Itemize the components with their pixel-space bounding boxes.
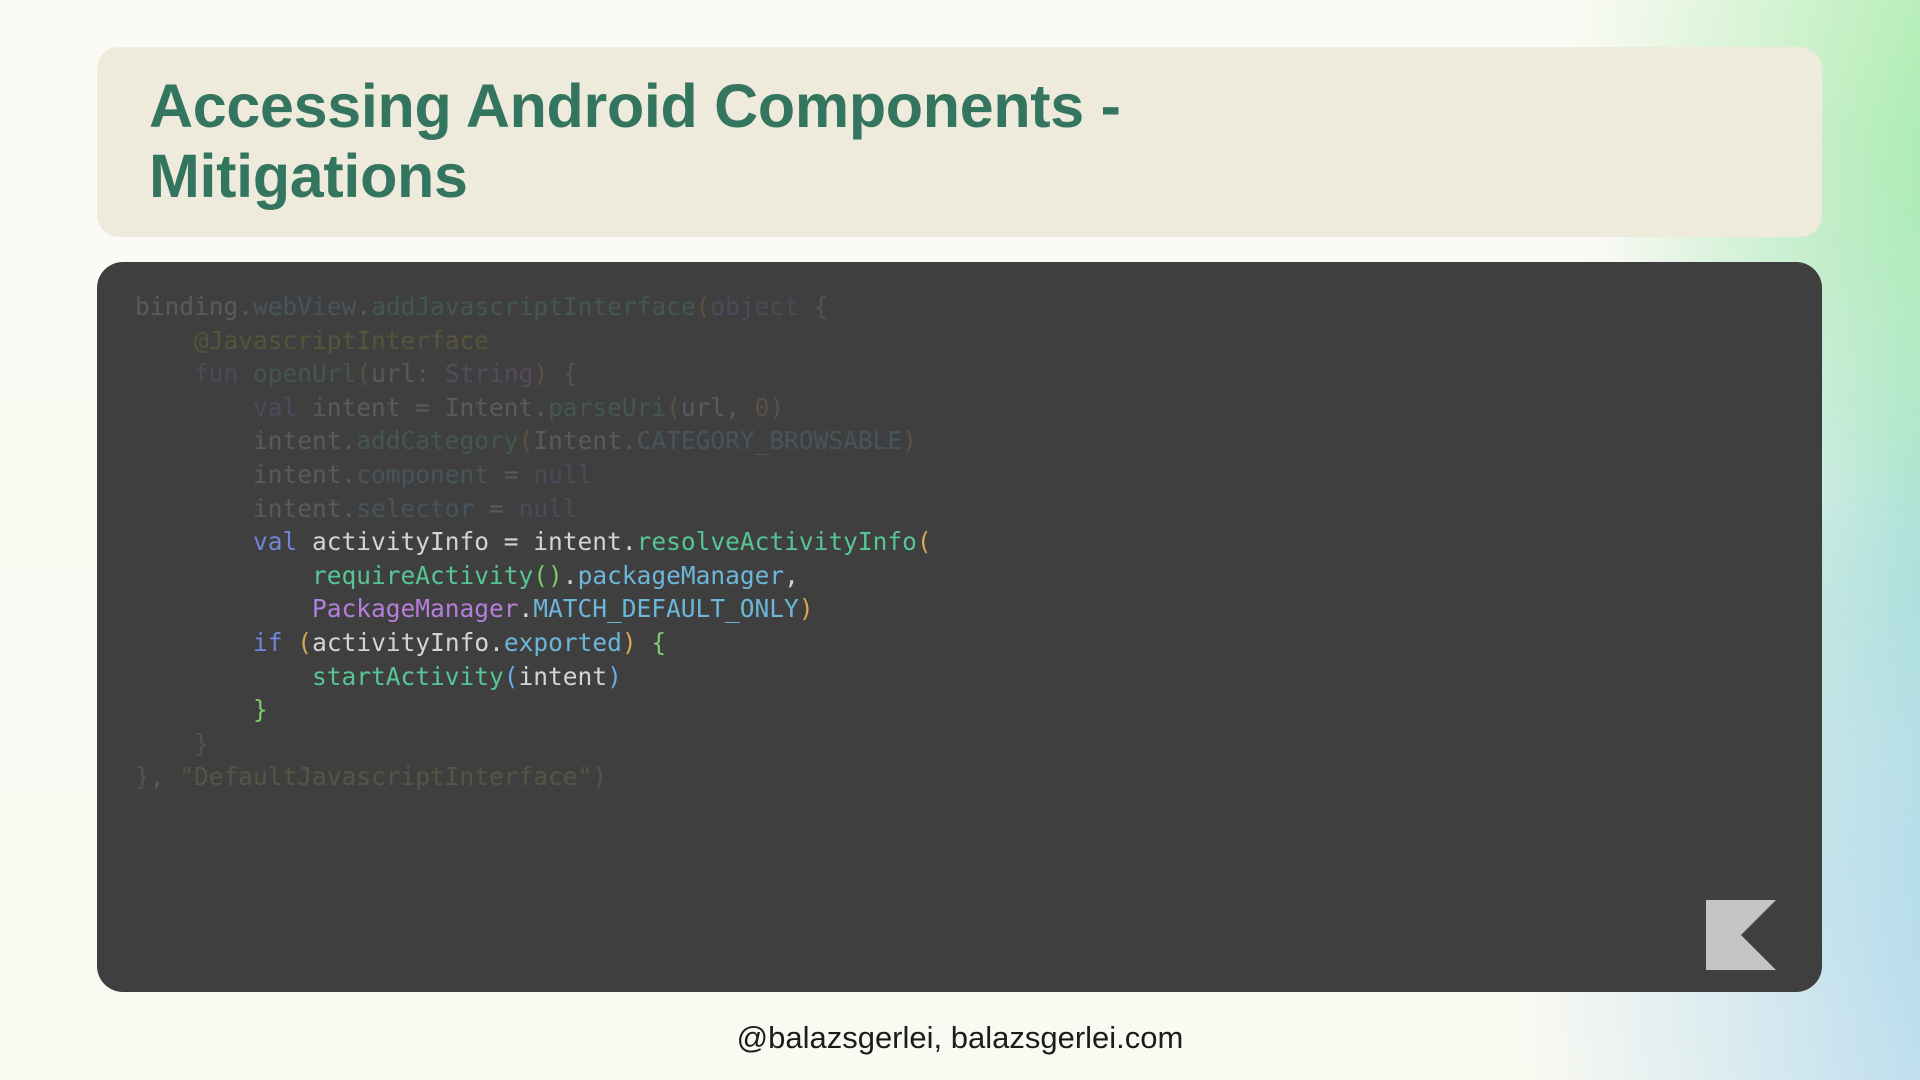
- code-token: [283, 628, 298, 657]
- code-token: ,: [725, 393, 755, 422]
- code-token: (: [696, 292, 711, 321]
- code-token: if: [253, 628, 283, 657]
- code-token: .: [622, 527, 637, 556]
- code-token: [135, 561, 312, 590]
- code-line: if (activityInfo.exported) {: [135, 626, 1822, 660]
- code-token: @JavascriptInterface: [194, 326, 489, 355]
- title-card: Accessing Android Components - Mitigatio…: [97, 47, 1822, 237]
- code-token: .: [342, 494, 357, 523]
- code-token: startActivity: [312, 662, 504, 691]
- code-token: [135, 393, 253, 422]
- code-token: resolveActivityInfo: [637, 527, 917, 556]
- code-token: parseUri: [548, 393, 666, 422]
- code-line: }: [135, 693, 1822, 727]
- code-token: }: [135, 762, 150, 791]
- code-token: [548, 359, 563, 388]
- code-line: val intent = Intent.parseUri(url, 0): [135, 391, 1822, 425]
- code-token: component: [356, 460, 489, 489]
- code-token: .: [342, 460, 357, 489]
- code-token: =: [489, 460, 533, 489]
- code-token: .: [238, 292, 253, 321]
- code-token: val: [253, 527, 297, 556]
- code-token: addJavascriptInterface: [371, 292, 696, 321]
- code-token: packageManager: [578, 561, 785, 590]
- code-token: openUrl: [253, 359, 356, 388]
- code-token: ): [533, 359, 548, 388]
- code-token: =: [474, 494, 518, 523]
- code-token: selector: [356, 494, 474, 523]
- code-token: .: [356, 292, 371, 321]
- code-line: fun openUrl(url: String) {: [135, 357, 1822, 391]
- code-line: }: [135, 727, 1822, 761]
- code-token: [135, 527, 253, 556]
- code-token: ): [769, 393, 784, 422]
- code-token: .: [342, 426, 357, 455]
- code-token: [135, 594, 312, 623]
- code-token: MATCH_DEFAULT_ONLY: [533, 594, 799, 623]
- code-token: ): [607, 662, 622, 691]
- code-token: [135, 662, 312, 691]
- code-token: .: [533, 393, 548, 422]
- code-token: PackageManager: [312, 594, 519, 623]
- code-token: ): [902, 426, 917, 455]
- code-token: ,: [784, 561, 799, 590]
- code-line: val activityInfo = intent.resolveActivit…: [135, 525, 1822, 559]
- code-token: Intent: [533, 426, 622, 455]
- code-token: intent: [533, 527, 622, 556]
- code-token: String: [445, 359, 534, 388]
- code-token: .: [622, 426, 637, 455]
- code-token: intent: [253, 494, 342, 523]
- code-token: null: [519, 494, 578, 523]
- code-token: "DefaultJavascriptInterface": [179, 762, 592, 791]
- code-token: intent: [253, 460, 342, 489]
- code-token: [135, 460, 253, 489]
- code-token: .: [489, 628, 504, 657]
- code-token: [799, 292, 814, 321]
- code-line: @JavascriptInterface: [135, 324, 1822, 358]
- code-line: intent.component = null: [135, 458, 1822, 492]
- code-token: [238, 359, 253, 388]
- code-token: val: [253, 393, 297, 422]
- code-token: requireActivity: [312, 561, 533, 590]
- code-line: intent.selector = null: [135, 492, 1822, 526]
- code-token: CATEGORY_BROWSABLE: [637, 426, 903, 455]
- code-token: }: [253, 695, 268, 724]
- code-token: [135, 628, 253, 657]
- code-token: ,: [150, 762, 180, 791]
- code-token: }: [194, 729, 209, 758]
- code-token: url: [681, 393, 725, 422]
- code-token: intent =: [297, 393, 445, 422]
- code-token: [637, 628, 652, 657]
- code-token: url: [371, 359, 415, 388]
- code-token: ): [799, 594, 814, 623]
- code-token: ): [622, 628, 637, 657]
- code-token: [135, 729, 194, 758]
- code-token: .: [519, 594, 534, 623]
- code-token: (: [504, 662, 519, 691]
- code-token: [135, 494, 253, 523]
- code-token: [135, 359, 194, 388]
- code-token: :: [415, 359, 445, 388]
- code-token: Intent: [445, 393, 534, 422]
- code-token: {: [814, 292, 829, 321]
- code-token: intent: [519, 662, 608, 691]
- code-token: (: [917, 527, 932, 556]
- code-token: ): [592, 762, 607, 791]
- code-token: (): [533, 561, 563, 590]
- code-token: 0: [755, 393, 770, 422]
- code-line: PackageManager.MATCH_DEFAULT_ONLY): [135, 592, 1822, 626]
- code-line: startActivity(intent): [135, 660, 1822, 694]
- code-token: webView: [253, 292, 356, 321]
- code-token: activityInfo =: [297, 527, 533, 556]
- code-token: intent: [253, 426, 342, 455]
- footer-credit: @balazsgerlei, balazsgerlei.com: [0, 1020, 1920, 1056]
- code-token: .: [563, 561, 578, 590]
- code-line: intent.addCategory(Intent.CATEGORY_BROWS…: [135, 424, 1822, 458]
- page-title: Accessing Android Components - Mitigatio…: [97, 72, 1397, 211]
- code-token: (: [356, 359, 371, 388]
- slide-canvas: Accessing Android Components - Mitigatio…: [0, 0, 1920, 1080]
- code-listing: binding.webView.addJavascriptInterface(o…: [97, 262, 1822, 794]
- kotlin-k-logo-icon: [1706, 900, 1776, 970]
- code-token: {: [563, 359, 578, 388]
- code-token: activityInfo: [312, 628, 489, 657]
- code-token: (: [297, 628, 312, 657]
- code-token: [135, 326, 194, 355]
- code-token: (: [519, 426, 534, 455]
- code-token: object: [710, 292, 799, 321]
- code-token: [135, 695, 253, 724]
- code-line: requireActivity().packageManager,: [135, 559, 1822, 593]
- code-token: binding: [135, 292, 238, 321]
- code-token: fun: [194, 359, 238, 388]
- code-token: {: [651, 628, 666, 657]
- code-token: addCategory: [356, 426, 518, 455]
- code-token: [135, 426, 253, 455]
- code-token: exported: [504, 628, 622, 657]
- code-line: }, "DefaultJavascriptInterface"): [135, 760, 1822, 794]
- code-block-card: binding.webView.addJavascriptInterface(o…: [97, 262, 1822, 992]
- code-token: null: [533, 460, 592, 489]
- code-token: (: [666, 393, 681, 422]
- code-line: binding.webView.addJavascriptInterface(o…: [135, 290, 1822, 324]
